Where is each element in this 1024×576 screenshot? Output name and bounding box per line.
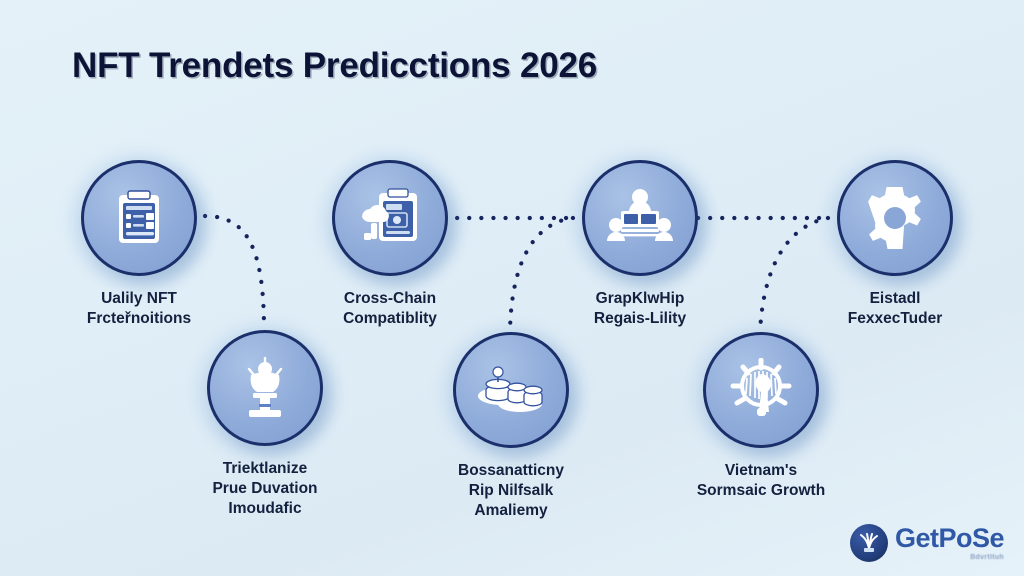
node-7[interactable]: Vietnam's Sormsaic Growth	[686, 332, 836, 501]
node-2[interactable]: Cross-Chain Compatiblity	[315, 160, 465, 329]
brand-tagline: Bdvrtltuh	[895, 554, 1004, 561]
node-3-circle[interactable]	[582, 160, 698, 276]
node-5[interactable]: Triektlanize Prue Duvation Imoudafic	[190, 330, 340, 518]
node-2-label: Cross-Chain Compatiblity	[315, 289, 465, 329]
gear-icon	[862, 185, 928, 251]
connector-3-6	[510, 218, 573, 330]
node-6-circle[interactable]	[453, 332, 569, 448]
infographic-canvas: NFT Trendets Predicctions 2026	[0, 0, 1024, 576]
node-7-label: Vietnam's Sormsaic Growth	[686, 461, 836, 501]
node-1-label: Ualily NFT Frcteřnoitions	[64, 289, 214, 329]
node-5-label: Triektlanize Prue Duvation Imoudafic	[190, 459, 340, 518]
node-6[interactable]: Bossanatticny Rip Nilfsalk Amaliemy	[436, 332, 586, 520]
cloud-screen-icon	[358, 187, 422, 249]
brand-text: GetPoSe Bdvrtltuh	[895, 525, 1004, 561]
node-2-circle[interactable]	[332, 160, 448, 276]
brand-name: GetPoSe	[895, 525, 1004, 552]
coin-stack-icon	[476, 362, 546, 418]
node-7-circle[interactable]	[703, 332, 819, 448]
fountain-burst-icon	[850, 524, 888, 562]
people-network-icon	[607, 187, 673, 249]
node-1[interactable]: Ualily NFT Frcteřnoitions	[64, 160, 214, 329]
node-3-label: GrapKlwHip Regais-Lility	[565, 289, 715, 329]
node-4-label: Eistadl FexxecTuder	[820, 289, 970, 329]
trophy-icon	[236, 357, 294, 419]
clipboard-document-icon	[108, 187, 170, 249]
node-4[interactable]: Eistadl FexxecTuder	[820, 160, 970, 329]
node-3[interactable]: GrapKlwHip Regais-Lility	[565, 160, 715, 329]
node-1-circle[interactable]	[81, 160, 197, 276]
node-4-circle[interactable]	[837, 160, 953, 276]
node-6-label: Bossanatticny Rip Nilfsalk Amaliemy	[436, 461, 586, 520]
node-5-circle[interactable]	[207, 330, 323, 446]
lightbulb-icon	[729, 358, 793, 422]
connector-4-7	[760, 218, 828, 332]
page-title: NFT Trendets Predicctions 2026	[72, 46, 597, 86]
brand-logo[interactable]: GetPoSe Bdvrtltuh	[850, 524, 1004, 562]
